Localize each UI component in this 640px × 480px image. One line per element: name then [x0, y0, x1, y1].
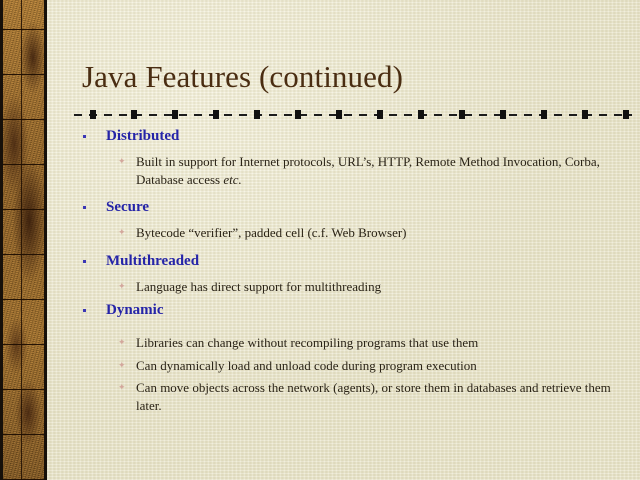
- diamond-icon: ✦: [118, 384, 125, 391]
- bullet-heading-label: Distributed: [106, 128, 179, 144]
- divider-squares: [74, 110, 632, 119]
- sub-bullet-text: Language has direct support for multithr…: [136, 279, 381, 294]
- square-dot-icon: [83, 135, 86, 138]
- sub-bullet-text-italic: etc.: [223, 172, 241, 187]
- spacer: [74, 242, 630, 251]
- sub-bullet-item: ✦ Bytecode “verifier”, padded cell (c.f.…: [74, 224, 630, 242]
- diamond-icon: ✦: [118, 362, 125, 369]
- sub-bullet-text: Can move objects across the network (age…: [136, 380, 611, 413]
- spacer: [74, 188, 630, 197]
- square-dot-icon: [83, 309, 86, 312]
- sub-bullet-item: ✦ Language has direct support for multit…: [74, 278, 630, 296]
- sub-bullet-text: Can dynamically load and unload code dur…: [136, 358, 477, 373]
- border-edge-right: [44, 0, 47, 480]
- bullet-item-secure: Secure: [74, 197, 630, 218]
- border-edge-left: [0, 0, 3, 480]
- bullet-item-dynamic: Dynamic: [74, 300, 630, 321]
- bullet-heading-label: Secure: [106, 199, 149, 215]
- bullet-item-distributed: Distributed: [74, 126, 630, 147]
- sub-bullet-text: Built in support for Internet protocols,…: [136, 154, 600, 187]
- bullet-item-multithreaded: Multithreaded: [74, 251, 630, 272]
- spacer: [74, 322, 630, 334]
- diamond-icon: ✦: [118, 339, 125, 346]
- sub-bullet-item: ✦ Libraries can change without recompili…: [74, 334, 630, 352]
- sub-bullet-text: Libraries can change without recompiling…: [136, 335, 478, 350]
- sub-bullet-item: ✦ Can move objects across the network (a…: [74, 379, 630, 414]
- title-divider: [74, 110, 632, 119]
- presentation-slide: Java Features (continued) Distributed ✦ …: [0, 0, 640, 480]
- sub-bullet-text: Bytecode “verifier”, padded cell (c.f. W…: [136, 225, 407, 240]
- sub-bullet-item: ✦ Can dynamically load and unload code d…: [74, 357, 630, 375]
- slide-body: Distributed ✦ Built in support for Inter…: [74, 126, 630, 414]
- square-dot-icon: [83, 260, 86, 263]
- bullet-heading-label: Multithreaded: [106, 253, 199, 269]
- diamond-icon: ✦: [118, 229, 125, 236]
- square-dot-icon: [83, 206, 86, 209]
- decorative-left-border: [0, 0, 47, 480]
- diamond-icon: ✦: [118, 283, 125, 290]
- sub-bullet-item: ✦ Built in support for Internet protocol…: [74, 153, 630, 188]
- page-title: Java Features (continued): [82, 58, 622, 96]
- diamond-icon: ✦: [118, 158, 125, 165]
- bullet-heading-label: Dynamic: [106, 302, 164, 318]
